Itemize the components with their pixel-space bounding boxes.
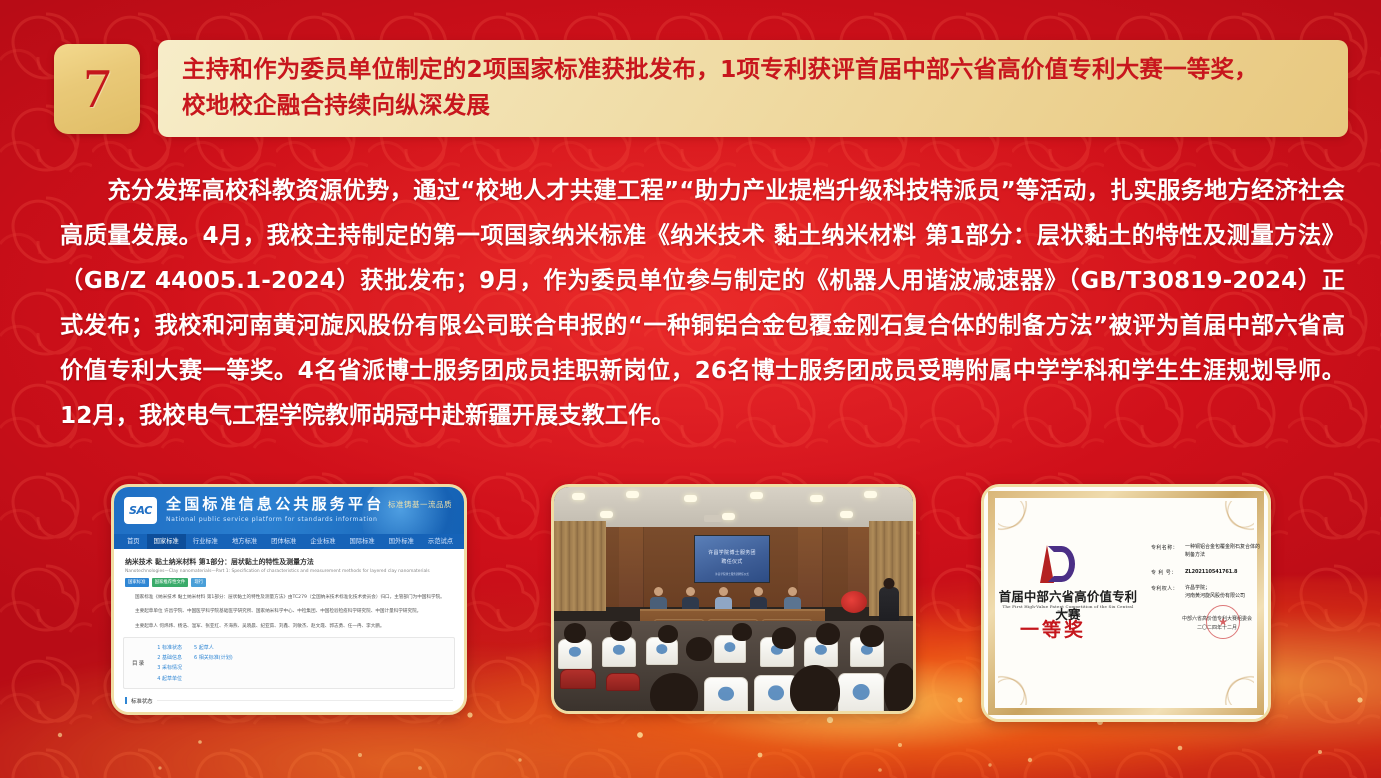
nav-item-7[interactable]: 国外标准 bbox=[382, 534, 421, 549]
sac-site-header: SAC 全国标准信息公共服务平台 National public service… bbox=[114, 487, 464, 534]
panelist bbox=[650, 587, 667, 610]
sac-logo-text: SAC bbox=[129, 504, 152, 517]
timeline-label-published: 发布于 2024-04-25 bbox=[171, 714, 211, 715]
swoosh-shape-icon bbox=[1048, 546, 1075, 582]
body-text-block: 充分发挥高校科教资源优势，通过“校地人才共建工程”“助力产业提档升级科技特派员”… bbox=[60, 168, 1345, 438]
screen-line-2: 聘任仪式 bbox=[695, 558, 769, 565]
field-patent-holder: 专利权人： 许昌学院； 河南黄河旋风股份有限公司 bbox=[1151, 585, 1263, 601]
field-patent-name-value: 一种铜铝合金包覆金刚石复合体的制备方法 bbox=[1185, 544, 1263, 560]
timeline-label-effective: 实施于 2024-11-01 bbox=[282, 714, 322, 715]
toc-item-6[interactable]: 6 相关标准(计划) bbox=[194, 654, 233, 661]
audience-seat bbox=[838, 673, 884, 711]
audience-seat-red bbox=[606, 673, 640, 691]
corner-ornament-icon bbox=[998, 671, 1032, 705]
status-heading-text: 标准状态 bbox=[131, 697, 153, 705]
official-seal-icon bbox=[1206, 605, 1240, 639]
status-heading-marker bbox=[125, 697, 127, 704]
ceiling-lamp bbox=[750, 492, 763, 499]
status-heading: 标准状态 bbox=[125, 697, 453, 705]
image-card-row: SAC 全国标准信息公共服务平台 National public service… bbox=[0, 484, 1381, 734]
screen-line-1: 许昌学院博士服务团 bbox=[695, 549, 769, 556]
toc-column-right: 5 起草人 6 相关标准(计划) bbox=[194, 644, 233, 682]
ceiling bbox=[554, 487, 913, 527]
audience-head bbox=[658, 625, 678, 643]
slide-header: 7 主持和作为委员单位制定的2项国家标准获批发布，1项专利获评首届中部六省高价值… bbox=[0, 0, 1381, 150]
panelist bbox=[715, 587, 732, 610]
standard-paragraph-1: 国家标准《纳米技术 黏土纳米材料 第1部分：层状黏土的特性及测量方法》由TC27… bbox=[125, 594, 453, 601]
ceiling-lamp bbox=[600, 511, 613, 518]
ceiling-lamp bbox=[840, 511, 853, 518]
toc-label: 目录 bbox=[132, 659, 145, 667]
holder-line-1: 许昌学院； bbox=[1185, 585, 1210, 591]
corner-ornament-icon bbox=[1220, 501, 1254, 535]
conference-photograph: 许昌学院博士服务团 聘任仪式 许昌学院博士服务团聘任仪式 bbox=[554, 487, 913, 711]
sac-title-group: 全国标准信息公共服务平台 National public service pla… bbox=[166, 496, 384, 523]
audience-seat bbox=[602, 637, 636, 667]
standard-tag-2: 现行 bbox=[191, 578, 206, 587]
toc-item-5[interactable]: 5 起草人 bbox=[194, 644, 233, 651]
competition-logo-icon bbox=[1018, 545, 1080, 585]
title-banner: 主持和作为委员单位制定的2项国家标准获批发布，1项专利获评首届中部六省高价值专利… bbox=[158, 40, 1348, 137]
conference-photo-card[interactable]: 许昌学院博士服务团 聘任仪式 许昌学院博士服务团聘任仪式 bbox=[551, 484, 916, 714]
flower-basket bbox=[841, 591, 867, 613]
ceiling-lamp bbox=[722, 513, 735, 520]
certificate-fields: 专利名称： 一种铜铝合金包覆金刚石复合体的制备方法 专 利 号： ZL20211… bbox=[1151, 544, 1263, 610]
toc-item-4[interactable]: 4 起草单位 bbox=[157, 675, 182, 682]
nav-item-0[interactable]: 首页 bbox=[120, 534, 147, 549]
field-patent-name: 专利名称： 一种铜铝合金包覆金刚石复合体的制备方法 bbox=[1151, 544, 1263, 560]
ceiling-lamp bbox=[684, 495, 697, 502]
sac-nav-bar[interactable]: 首页 国家标准 行业标准 地方标准 团体标准 企业标准 国际标准 国外标准 示范… bbox=[114, 534, 464, 549]
audience-head bbox=[772, 627, 796, 649]
standard-tag-0: 国家标准 bbox=[125, 578, 149, 587]
body-paragraph: 充分发挥高校科教资源优势，通过“校地人才共建工程”“助力产业提档升级科技特派员”… bbox=[60, 168, 1345, 438]
audience-head bbox=[686, 637, 712, 661]
nav-item-1[interactable]: 国家标准 bbox=[147, 534, 186, 549]
field-patent-number-key: 专 利 号： bbox=[1151, 569, 1185, 577]
stars-icon bbox=[1018, 553, 1042, 577]
competition-name-en: The First High-Value Patent Competition … bbox=[998, 604, 1138, 614]
corner-ornament-icon bbox=[1220, 671, 1254, 705]
standard-detail-body: 纳米技术 黏土纳米材料 第1部分：层状黏土的特性及测量方法 Nanotechno… bbox=[114, 549, 464, 630]
standard-tag-group: 国家标准 国家推荐性文件 现行 bbox=[125, 578, 453, 587]
certificate-image: 首届中部六省高价值专利大赛 The First High-Value Paten… bbox=[984, 487, 1268, 719]
standard-status-section: 标准状态 发布于 2024-04-25 实施于 2024-11-01 废止 bbox=[114, 697, 464, 715]
status-timeline: 发布于 2024-04-25 实施于 2024-11-01 废止 bbox=[125, 714, 453, 715]
field-patent-holder-key: 专利权人： bbox=[1151, 585, 1185, 601]
sac-logo: SAC bbox=[124, 497, 157, 524]
award-prize-label: 一等奖 bbox=[1020, 615, 1086, 642]
ceiling-lamp bbox=[626, 491, 639, 498]
audience-head bbox=[790, 665, 840, 711]
wall-panel bbox=[798, 527, 823, 607]
nav-item-9[interactable]: 技术委员会 bbox=[460, 534, 467, 549]
site-slogan: 标准铸基一流品质 bbox=[388, 499, 452, 510]
standard-paragraph-2: 主要起草单位 许昌学院、中国医学科学院基础医学研究所、国家纳米科学中心、中检集团… bbox=[125, 608, 453, 615]
audience-seat-red bbox=[560, 669, 596, 689]
platform-title-cn: 全国标准信息公共服务平台 bbox=[166, 496, 384, 513]
field-patent-holder-value: 许昌学院； 河南黄河旋风股份有限公司 bbox=[1185, 585, 1245, 601]
nav-item-4[interactable]: 团体标准 bbox=[264, 534, 303, 549]
table-of-contents: 目录 1 标准状态 2 基础信息 3 采标情况 4 起草单位 5 起草人 6 相… bbox=[123, 637, 455, 689]
toc-column-left: 1 标准状态 2 基础信息 3 采标情况 4 起草单位 bbox=[157, 644, 182, 682]
toc-item-1[interactable]: 1 标准状态 bbox=[157, 644, 182, 651]
timeline-point-abolished: 废止 bbox=[409, 714, 418, 715]
standard-title-cn: 纳米技术 黏土纳米材料 第1部分：层状黏土的特性及测量方法 bbox=[125, 558, 453, 567]
field-patent-name-key: 专利名称： bbox=[1151, 544, 1185, 560]
standard-paragraph-3: 主要起草人 何炜炜、杨浩、温军、张亚红、齐海燕、吴晓晨、纪亚茹、刘鑫、刘敏杰、赵… bbox=[125, 623, 453, 630]
title-line-1: 主持和作为委员单位制定的2项国家标准获批发布，1项专利获评首届中部六省高价值专利… bbox=[182, 52, 1326, 88]
field-patent-number-value: ZL202110541761.8 bbox=[1185, 569, 1237, 577]
audience-head bbox=[564, 623, 586, 643]
field-patent-number: 专 利 号： ZL202110541761.8 bbox=[1151, 569, 1263, 577]
standard-title-en: Nanotechnologies—Clay nanomaterials—Part… bbox=[125, 569, 453, 574]
panelist bbox=[750, 587, 767, 610]
status-heading-rule bbox=[157, 700, 453, 701]
ceiling-lamp bbox=[572, 493, 585, 500]
audience-head bbox=[884, 663, 913, 711]
slide-number-text: 7 bbox=[83, 61, 111, 117]
audience-head bbox=[816, 623, 840, 645]
award-certificate-card[interactable]: 首届中部六省高价值专利大赛 The First High-Value Paten… bbox=[981, 484, 1271, 722]
audience-head bbox=[610, 621, 632, 641]
standard-tag-1: 国家推荐性文件 bbox=[152, 578, 189, 587]
audience-head bbox=[860, 625, 884, 647]
standards-page-card[interactable]: SAC 全国标准信息公共服务平台 National public service… bbox=[111, 484, 467, 715]
panelist bbox=[784, 587, 801, 610]
nav-item-8[interactable]: 示范试点 bbox=[421, 534, 460, 549]
nav-item-3[interactable]: 地方标准 bbox=[225, 534, 264, 549]
holder-line-2: 河南黄河旋风股份有限公司 bbox=[1185, 593, 1245, 599]
audience-seat bbox=[704, 677, 748, 711]
ceiling-lamp bbox=[864, 491, 877, 498]
timeline-point-published: 发布于 2024-04-25 bbox=[171, 714, 211, 715]
nav-item-5[interactable]: 企业标准 bbox=[303, 534, 342, 549]
ceiling-lamp bbox=[810, 495, 823, 502]
nav-item-6[interactable]: 国际标准 bbox=[343, 534, 382, 549]
audience-seat bbox=[558, 639, 592, 669]
toc-item-2[interactable]: 2 基础信息 bbox=[157, 654, 182, 661]
panelist bbox=[682, 587, 699, 610]
projector bbox=[704, 515, 722, 522]
corner-ornament-icon bbox=[998, 501, 1032, 535]
timeline-point-effective: 实施于 2024-11-01 bbox=[282, 714, 322, 715]
timeline-label-abolished: 废止 bbox=[409, 714, 418, 715]
nav-item-2[interactable]: 行业标准 bbox=[186, 534, 225, 549]
screen-subtitle: 许昌学院博士服务团聘任仪式 bbox=[695, 572, 769, 576]
sac-website-screenshot: SAC 全国标准信息公共服务平台 National public service… bbox=[114, 487, 464, 712]
platform-title-en: National public service platform for sta… bbox=[166, 516, 384, 523]
wall-panel bbox=[619, 527, 644, 607]
projection-screen: 许昌学院博士服务团 聘任仪式 许昌学院博士服务团聘任仪式 bbox=[694, 535, 770, 583]
curtain-left bbox=[554, 521, 606, 611]
audience-head bbox=[732, 623, 752, 641]
slide-number-badge: 7 bbox=[54, 44, 140, 134]
title-line-2: 校地校企融合持续向纵深发展 bbox=[182, 88, 1326, 124]
toc-item-3[interactable]: 3 采标情况 bbox=[157, 664, 182, 671]
audience-head bbox=[650, 673, 698, 711]
